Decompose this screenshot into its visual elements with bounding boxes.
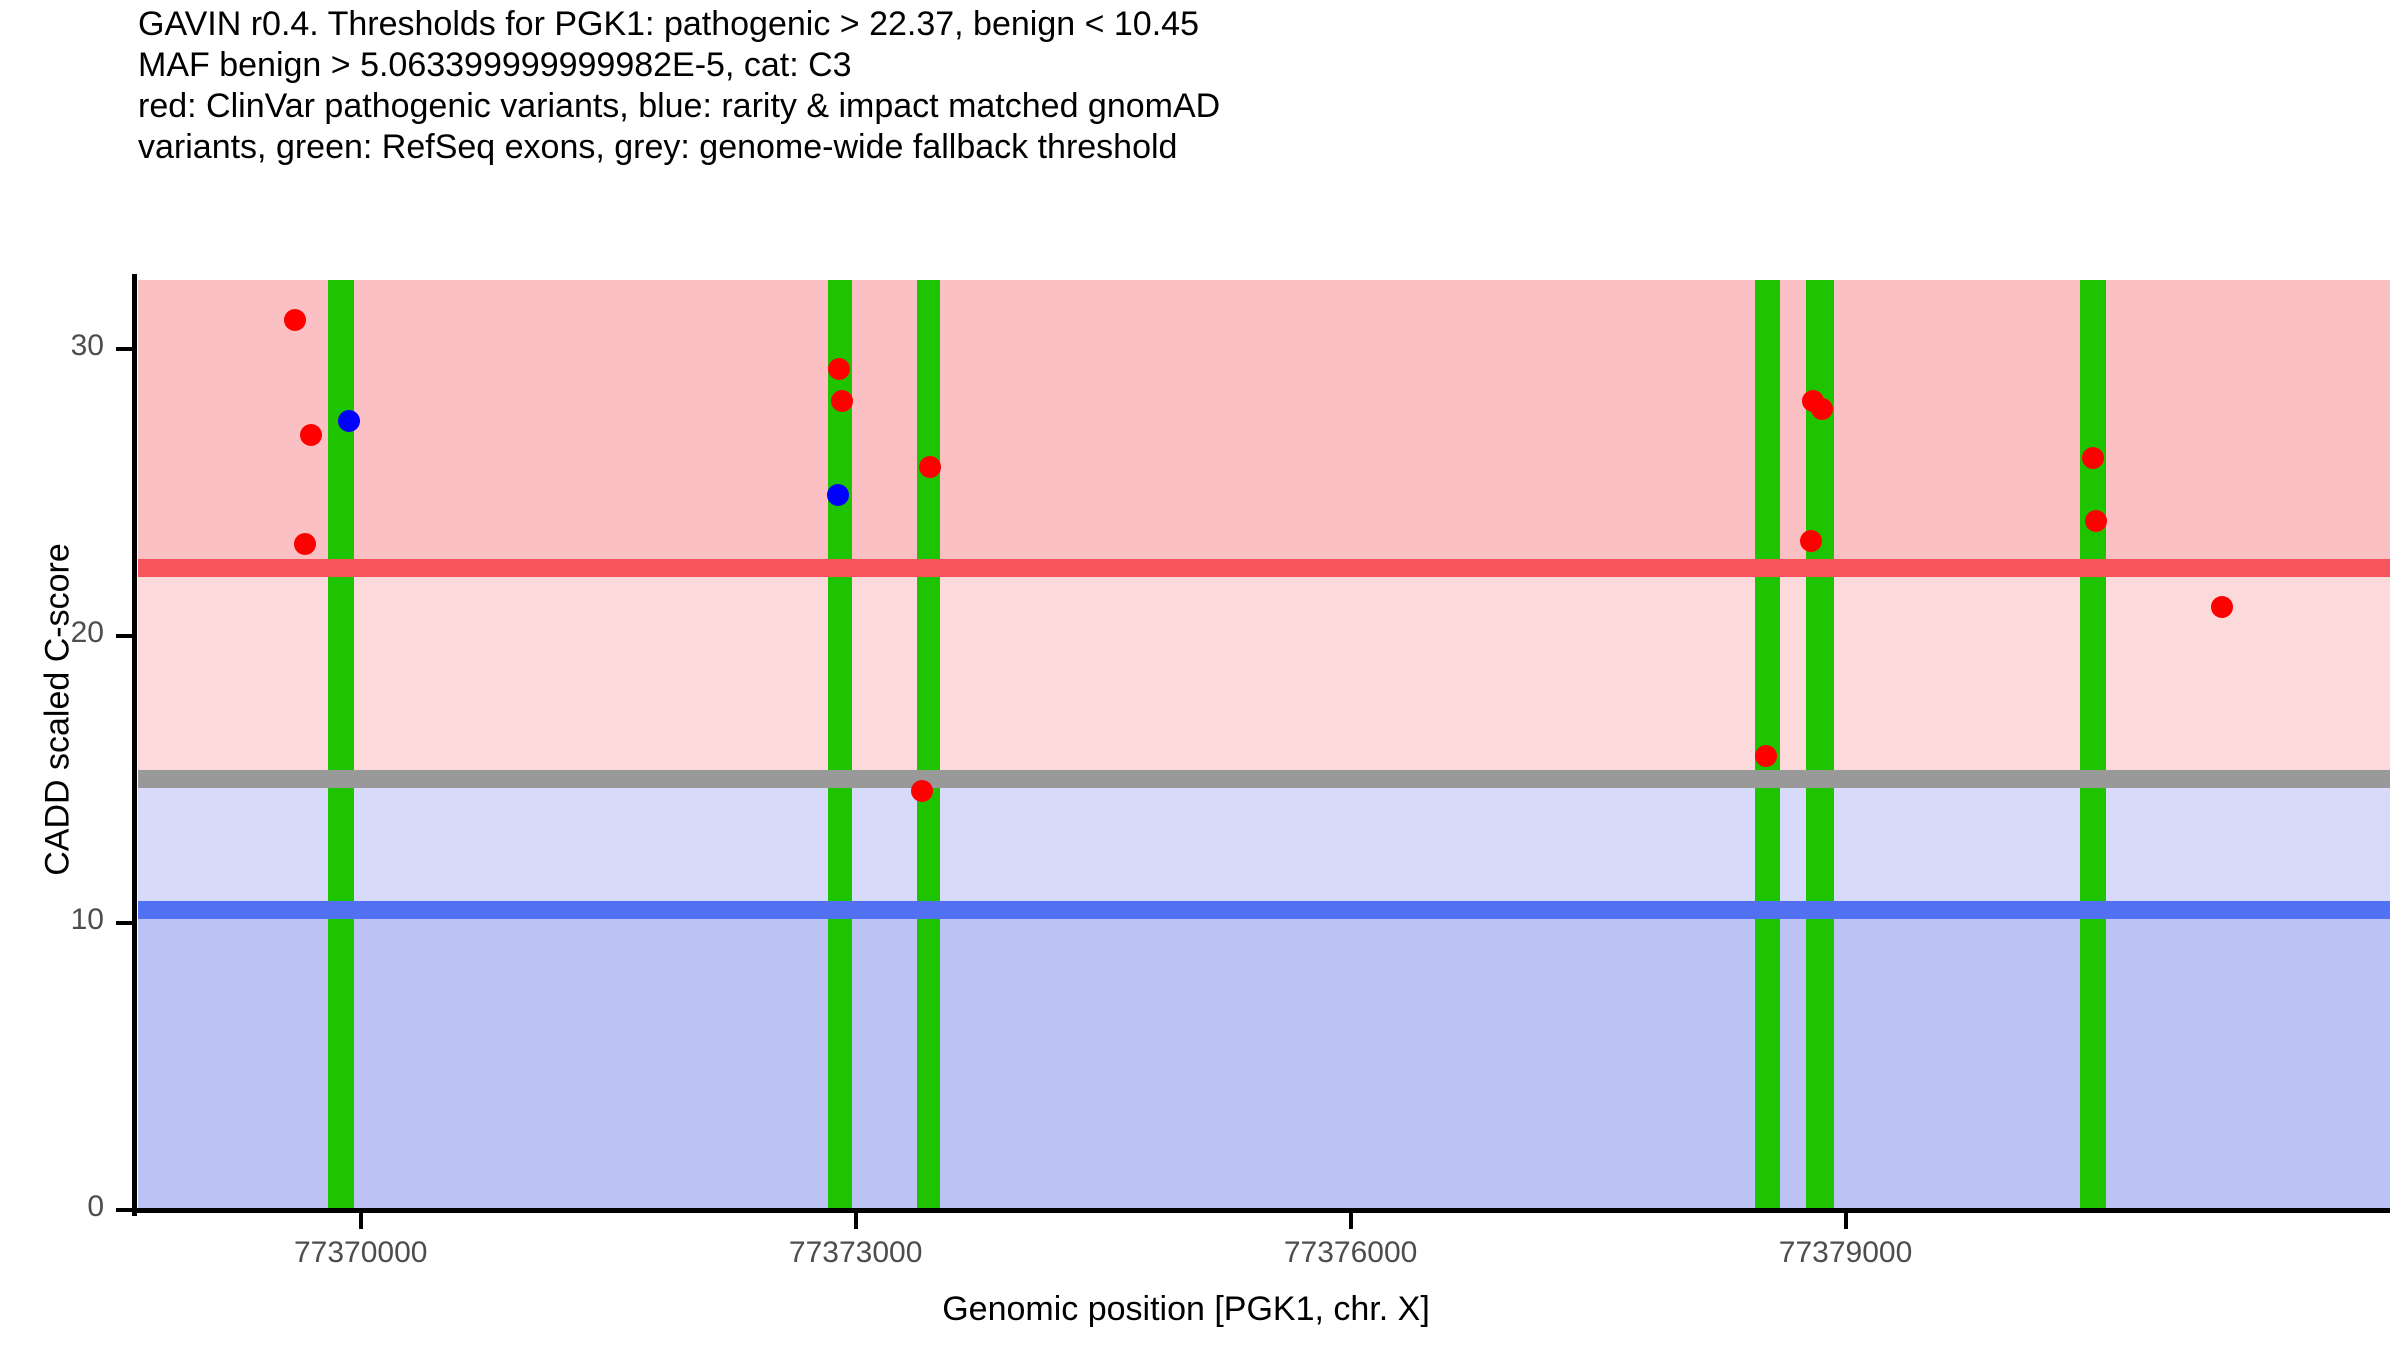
exon-bar-6	[2080, 280, 2106, 1210]
exon-bar-2	[828, 280, 853, 1210]
y-tick-label-0: 0	[0, 1190, 104, 1224]
pathogenic-variant-point-6[interactable]	[919, 456, 941, 478]
y-tick-1	[116, 921, 132, 925]
gnomad-variant-point-2[interactable]	[827, 484, 849, 506]
benign-threshold-line	[138, 901, 2390, 919]
pathogenic-variant-point-14[interactable]	[2211, 596, 2233, 618]
y-axis-title: CADD scaled C-score	[39, 330, 78, 1090]
y-tick-label-2: 20	[0, 616, 104, 650]
chart-title-block: GAVIN r0.4. Thresholds for PGK1: pathoge…	[138, 4, 2338, 168]
gnomad-variant-point-1[interactable]	[338, 410, 360, 432]
y-tick-3	[116, 347, 132, 351]
x-tick-3	[1844, 1213, 1848, 1229]
band-low-benign	[138, 910, 2390, 1210]
x-axis-line	[132, 1208, 2390, 1213]
x-tick-0	[359, 1213, 363, 1229]
chart-root: GAVIN r0.4. Thresholds for PGK1: pathoge…	[0, 0, 2400, 1350]
x-axis-title: Genomic position [PGK1, chr. X]	[60, 1290, 2312, 1329]
x-tick-1	[854, 1213, 858, 1229]
fallback-threshold-line	[138, 770, 2390, 788]
y-tick-label-1: 10	[0, 903, 104, 937]
pathogenic-variant-point-4[interactable]	[828, 358, 850, 380]
title-line-1: GAVIN r0.4. Thresholds for PGK1: pathoge…	[138, 4, 2338, 45]
exon-bar-3	[917, 280, 940, 1210]
pathogenic-variant-point-7[interactable]	[911, 780, 933, 802]
title-line-2: MAF benign > 5.063399999999982E-5, cat: …	[138, 45, 2338, 86]
band-mid-pathogenic	[138, 568, 2390, 780]
title-line-3: red: ClinVar pathogenic variants, blue: …	[138, 86, 2338, 127]
pathogenic-threshold-line	[138, 559, 2390, 577]
pathogenic-variant-point-12[interactable]	[2082, 447, 2104, 469]
x-tick-label-1: 77373000	[789, 1236, 922, 1270]
x-tick-2	[1349, 1213, 1353, 1229]
y-tick-label-3: 30	[0, 329, 104, 363]
x-tick-label-0: 77370000	[294, 1236, 427, 1270]
band-mid-benign	[138, 779, 2390, 910]
x-tick-label-2: 77376000	[1284, 1236, 1417, 1270]
y-tick-2	[116, 634, 132, 638]
band-high-pathogenic	[138, 280, 2390, 568]
y-tick-0	[116, 1208, 132, 1212]
pathogenic-variant-point-3[interactable]	[294, 533, 316, 555]
y-axis-line	[132, 274, 137, 1216]
pathogenic-variant-point-5[interactable]	[831, 390, 853, 412]
pathogenic-variant-point-11[interactable]	[1800, 530, 1822, 552]
pathogenic-variant-point-1[interactable]	[284, 309, 306, 331]
title-line-4: variants, green: RefSeq exons, grey: gen…	[138, 127, 2338, 168]
x-tick-label-3: 77379000	[1779, 1236, 1912, 1270]
plot-panel	[138, 280, 2390, 1210]
